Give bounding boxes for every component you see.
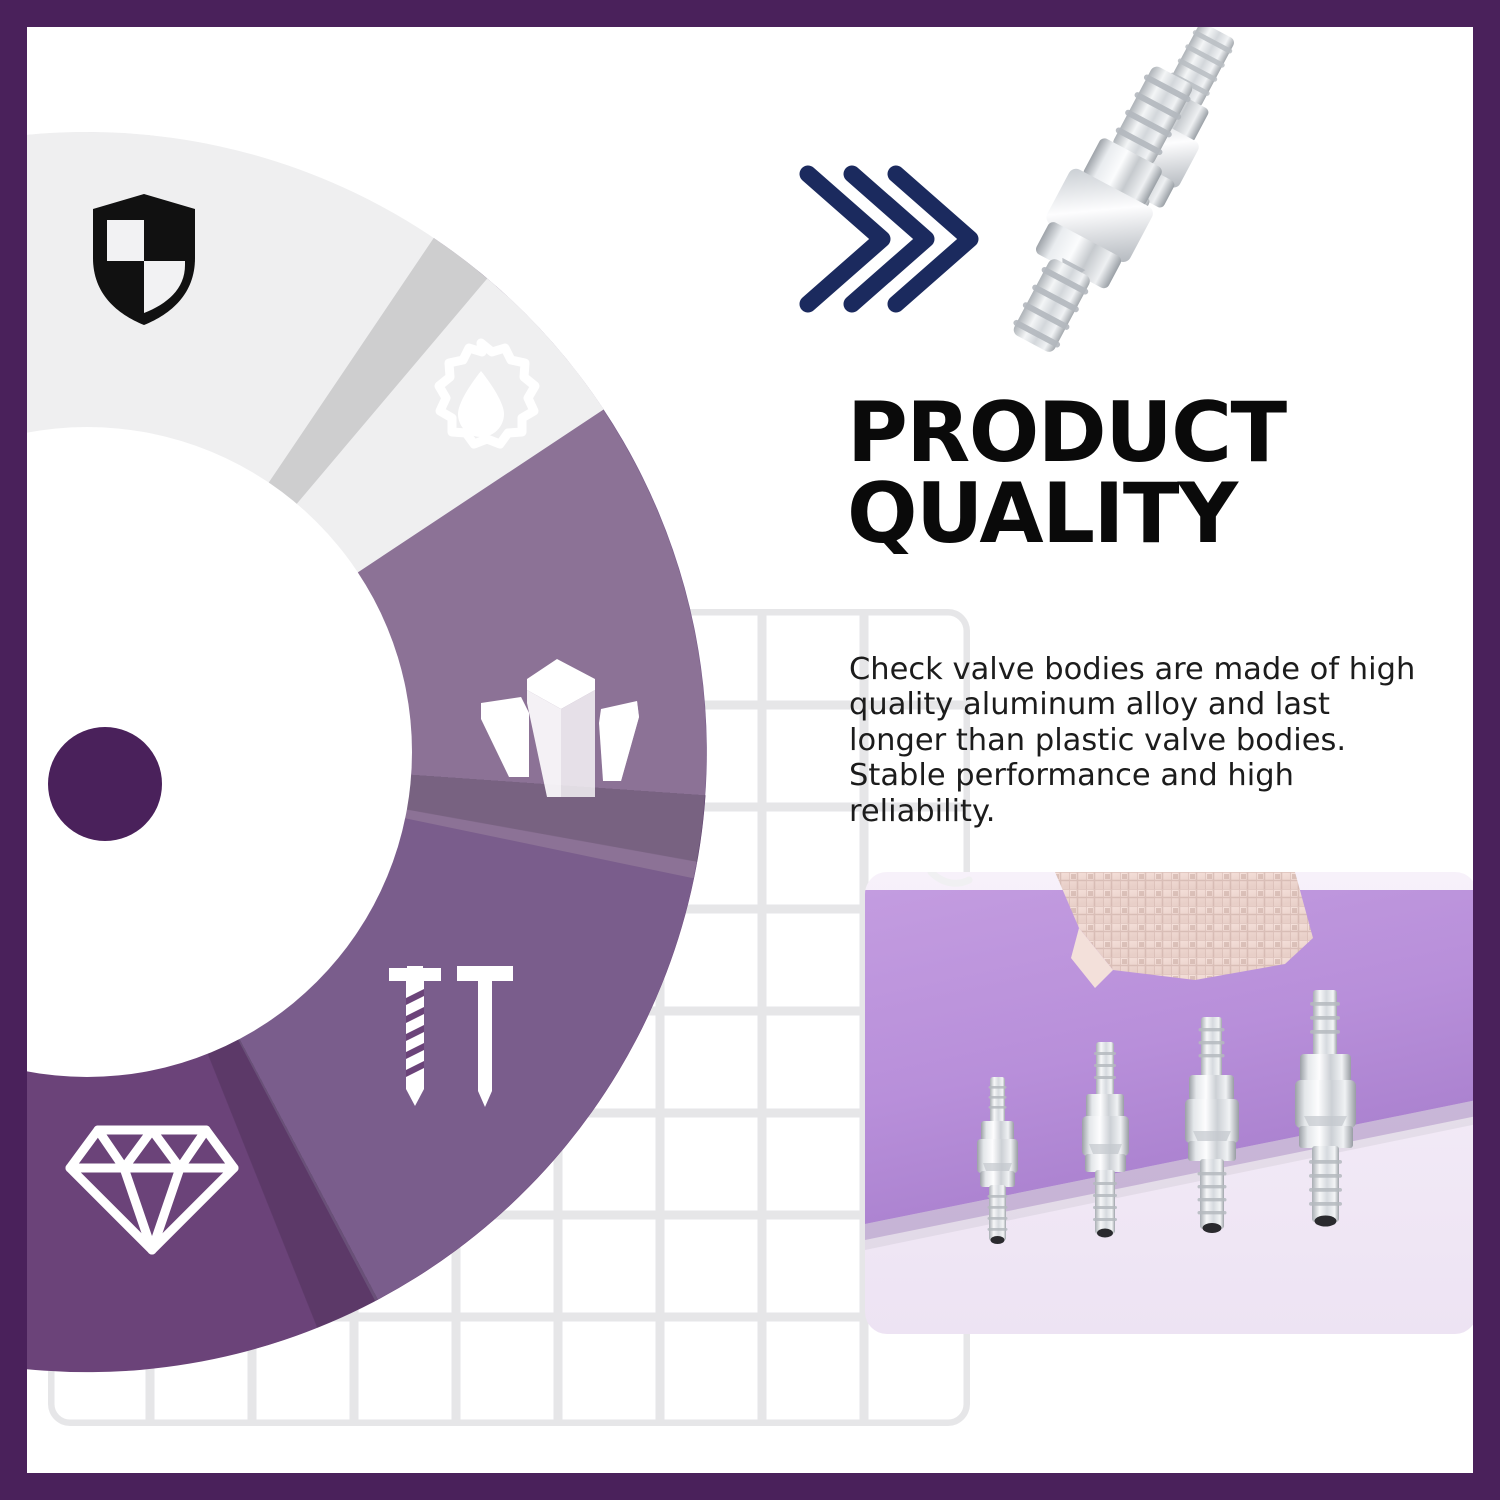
description-line-5: reliability. [849,794,1457,829]
check-valve-pair-photo [975,27,1285,417]
screw-and-nail-icon [385,962,517,1112]
shield-icon [89,192,199,327]
infographic-canvas: 304 STAINLESS STEEL Water Proof MODEL IN… [27,27,1473,1473]
product-description: Check valve bodies are made of high qual… [849,652,1457,829]
description-line-3: longer than plastic valve bodies. [849,723,1457,758]
donut-center-dot [48,727,162,841]
right-content-column: PRODUCT QUALITY Check valve bodies are m… [825,27,1473,1473]
description-line-1: Check valve bodies are made of high [849,652,1457,687]
page-title: PRODUCT QUALITY [847,392,1447,555]
water-drop-badge-icon [417,337,545,465]
description-line-4: Stable performance and high [849,758,1457,793]
chevrons-right-icon [790,152,990,327]
title-line-2: QUALITY [847,473,1447,554]
diamond-icon [62,1122,242,1257]
crystals-icon [469,657,649,807]
infographic-page: 304 STAINLESS STEEL Water Proof MODEL IN… [0,0,1500,1500]
description-line-2: quality aluminum alloy and last [849,687,1457,722]
check-valve-sizes-photo [865,872,1473,1334]
